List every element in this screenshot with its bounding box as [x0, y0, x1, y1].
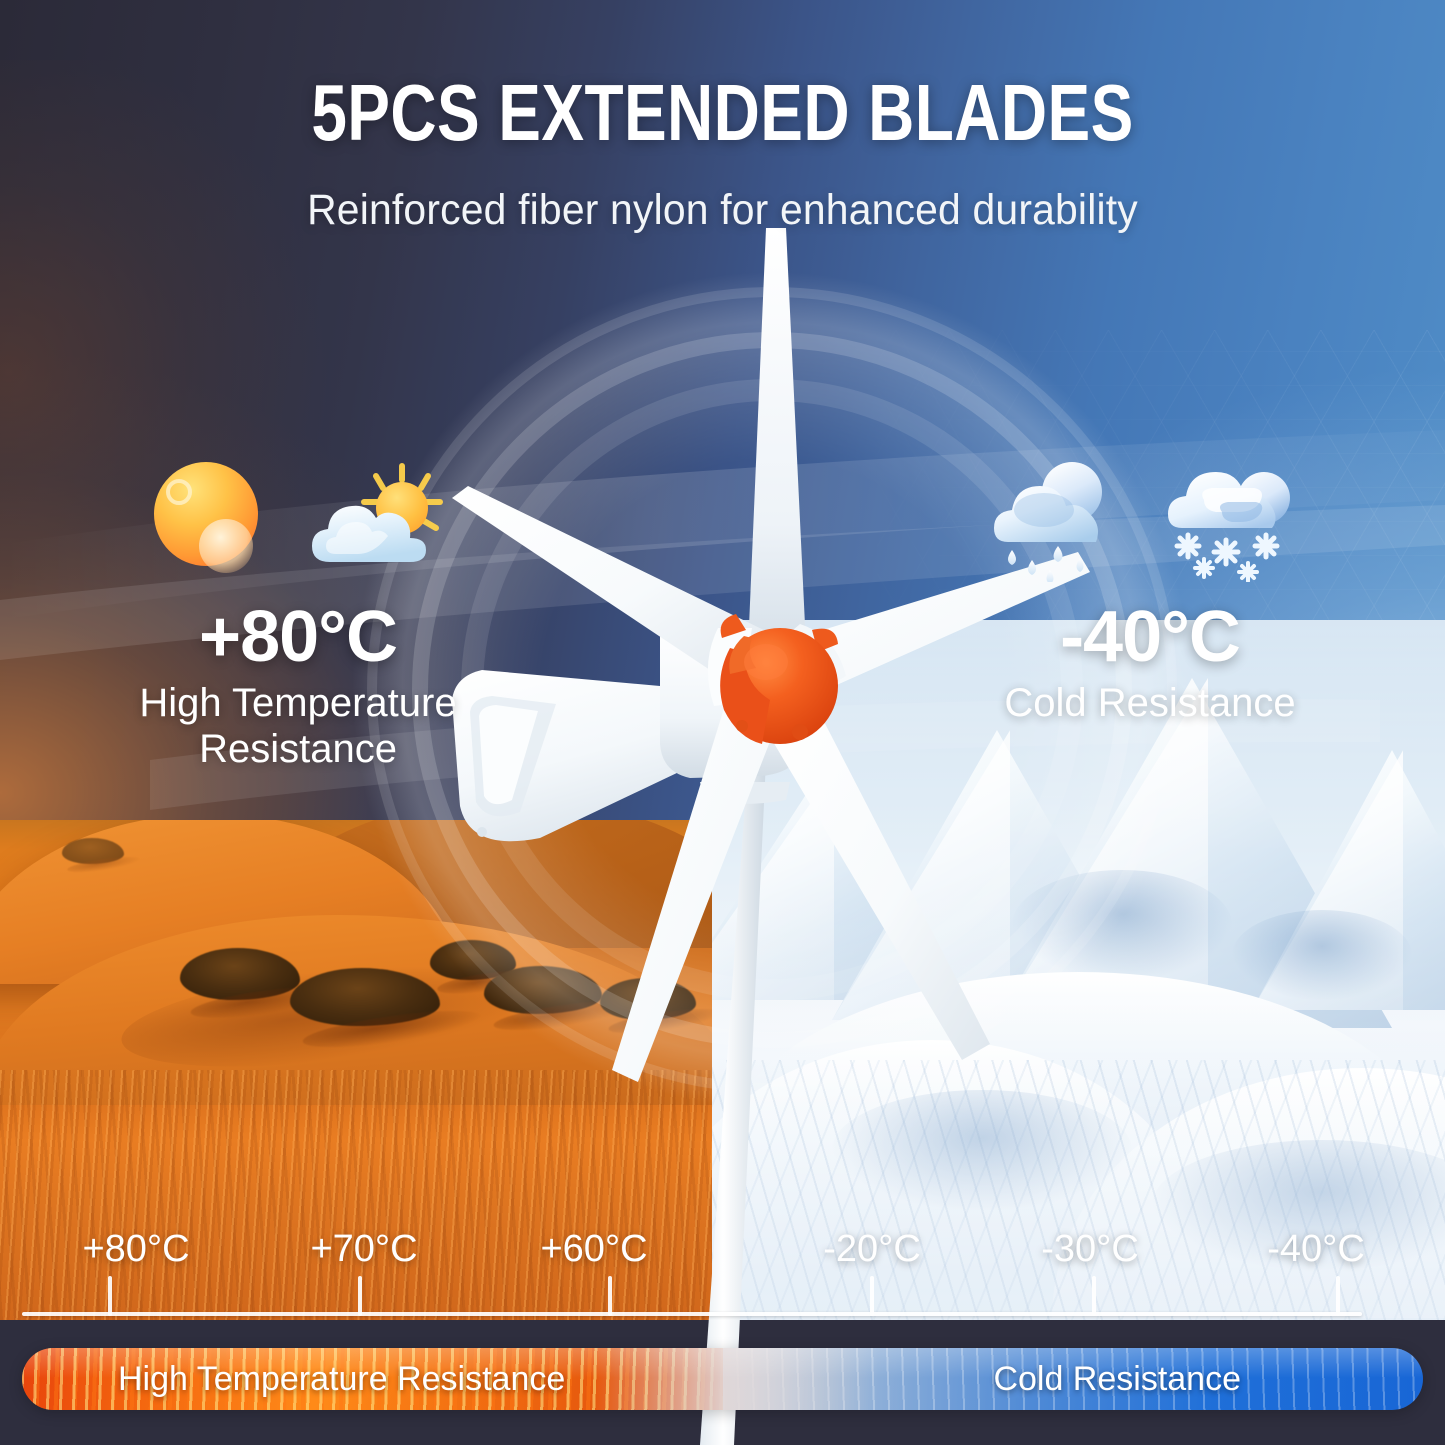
raindrops [1008, 546, 1084, 582]
cold-resistance-block: -40°C Cold Resistance [900, 452, 1400, 726]
scale-tick [608, 1276, 612, 1316]
sun-icon [148, 458, 280, 582]
scale-tick [358, 1276, 362, 1316]
bar-label-cold: Cold Resistance [993, 1348, 1241, 1410]
page-title: 5PCS EXTENDED BLADES [145, 72, 1301, 154]
high-temperature-block: +80°C High Temperature Resistance [48, 452, 548, 772]
rain-cloud-icon [988, 454, 1134, 582]
cold-temperature-label: Cold Resistance [900, 680, 1400, 726]
cold-weather-icons [900, 452, 1400, 582]
cold-label-line1: Cold Resistance [1004, 681, 1295, 725]
bar-label-hot: High Temperature Resistance [118, 1348, 565, 1410]
desert-bush [62, 838, 124, 864]
cold-temperature-value: -40°C [900, 596, 1400, 678]
hot-label-line2: Resistance [199, 727, 397, 771]
scale-label-cold: -30°C [1041, 1228, 1139, 1271]
sun-behind-cloud-icon [306, 458, 448, 582]
scale-axis-line [22, 1312, 1362, 1316]
snow-cloud-icon [1160, 454, 1312, 582]
hot-label-line1: High Temperature [139, 681, 456, 725]
scale-tick [1092, 1276, 1096, 1316]
temperature-scale: +80°C +70°C +60°C -20°C -30°C -40°C [0, 1228, 1445, 1338]
product-infographic: 5PCS EXTENDED BLADES Reinforced fiber ny… [0, 0, 1445, 1445]
scale-label-hot: +80°C [82, 1228, 189, 1271]
scale-label-hot: +70°C [310, 1228, 417, 1271]
hot-temperature-value: +80°C [48, 596, 548, 678]
scale-tick [1336, 1276, 1340, 1316]
desert-bush [600, 978, 696, 1020]
resistance-range-bar: High Temperature Resistance Cold Resista… [22, 1348, 1423, 1410]
page-subtitle: Reinforced fiber nylon for enhanced dura… [36, 186, 1409, 235]
scale-label-hot: +60°C [540, 1228, 647, 1271]
hot-weather-icons [48, 452, 548, 582]
hot-temperature-label: High Temperature Resistance [48, 680, 548, 772]
snowflakes [1177, 535, 1277, 581]
scale-label-cold: -20°C [823, 1228, 921, 1271]
scale-tick [108, 1276, 112, 1316]
scale-label-cold: -40°C [1267, 1228, 1365, 1271]
scale-tick [870, 1276, 874, 1316]
